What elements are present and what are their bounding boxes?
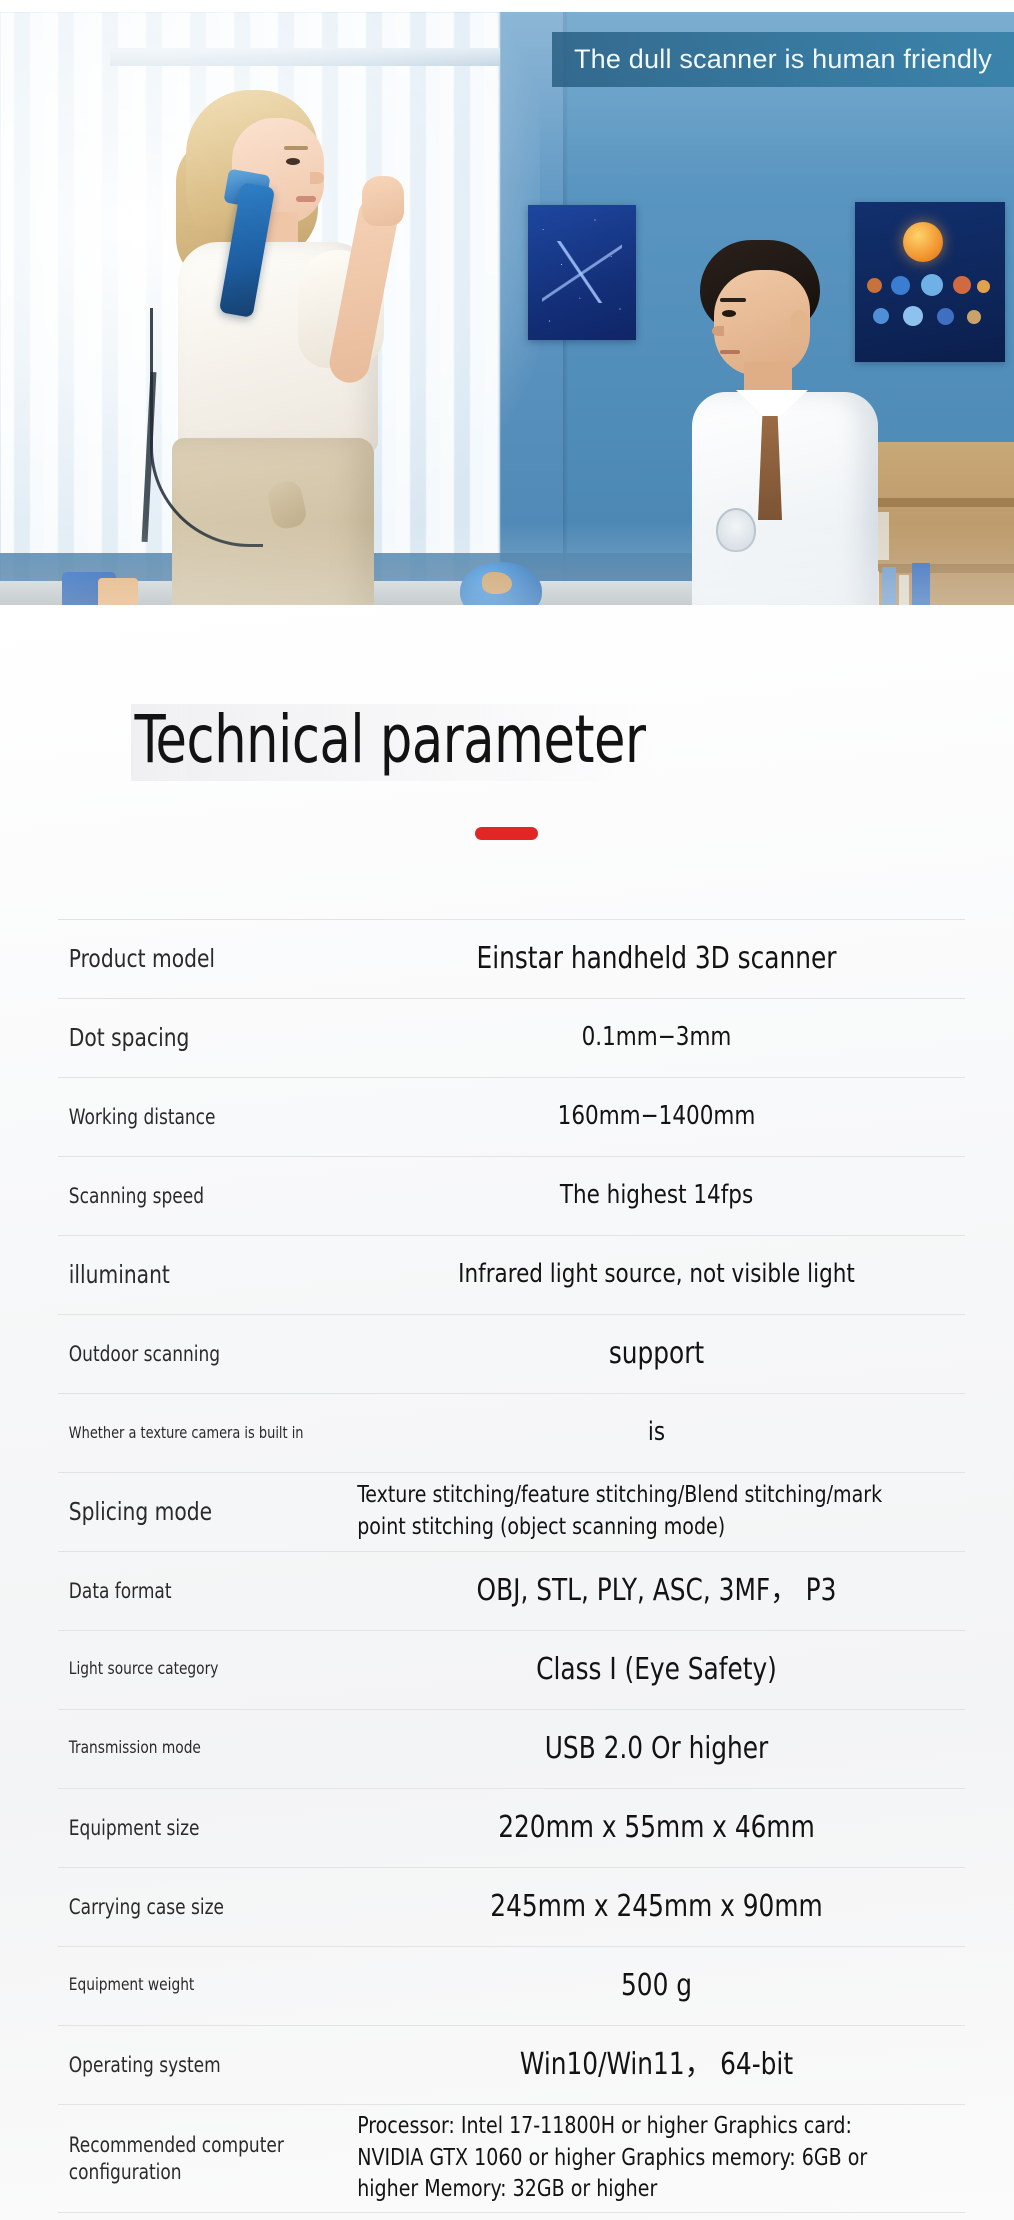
spec-value: support	[373, 1333, 941, 1374]
spec-label: illuminant	[58, 1259, 319, 1291]
hero-illustration	[0, 12, 1014, 605]
spec-value: 220mm x 55mm x 46mm	[373, 1807, 941, 1848]
spec-label: Transmission mode	[58, 1738, 319, 1760]
spec-label: Splicing mode	[58, 1496, 319, 1528]
table-row: Data format OBJ, STL, PLY, ASC, 3MF， P3	[58, 1551, 965, 1630]
table-row: Splicing mode Texture stitching/feature …	[58, 1472, 965, 1551]
spec-label: Dot spacing	[58, 1022, 319, 1054]
spec-value: Einstar handheld 3D scanner	[373, 938, 941, 979]
table-row: Scanning speed The highest 14fps	[58, 1156, 965, 1235]
spec-value: 500 g	[373, 1965, 941, 2006]
table-row: Recommended computer configuration Proce…	[58, 2104, 965, 2213]
spec-value: USB 2.0 Or higher	[373, 1728, 941, 1769]
section-title-wrap: Technical parameter	[0, 660, 1014, 825]
table-row: Operating system Win10/Win11， 64-bit	[58, 2025, 965, 2104]
spec-table: Product model Einstar handheld 3D scanne…	[58, 919, 965, 2213]
table-row: Equipment weight 500 g	[58, 1946, 965, 2025]
table-row: Dot spacing 0.1mm−3mm	[58, 998, 965, 1077]
spec-value: OBJ, STL, PLY, ASC, 3MF， P3	[373, 1570, 941, 1611]
spec-value: 245mm x 245mm x 90mm	[373, 1886, 941, 1927]
technical-parameter-section: Technical parameter Product model Einsta…	[0, 605, 1014, 2220]
spec-label: Carrying case size	[58, 1894, 319, 1921]
hero-banner-caption: The dull scanner is human friendly	[552, 32, 1014, 87]
table-row: Product model Einstar handheld 3D scanne…	[58, 919, 965, 998]
spec-label: Equipment weight	[58, 1975, 319, 1997]
spec-label: Whether a texture camera is built in	[58, 1423, 319, 1443]
hero-overlay-haze	[0, 12, 1014, 605]
table-row: Whether a texture camera is built in is	[58, 1393, 965, 1472]
spec-label: Equipment size	[58, 1815, 319, 1842]
spec-value: Texture stitching/feature stitching/Blen…	[348, 1480, 916, 1543]
spec-value: is	[373, 1415, 941, 1451]
table-row: illuminant Infrared light source, not vi…	[58, 1235, 965, 1314]
spec-value: 160mm−1400mm	[373, 1099, 941, 1135]
page-title: Technical parameter	[131, 704, 654, 781]
title-accent-rule	[475, 827, 538, 840]
spec-value: 0.1mm−3mm	[373, 1020, 941, 1056]
table-row: Outdoor scanning support	[58, 1314, 965, 1393]
spec-label: Working distance	[58, 1104, 319, 1131]
table-row: Equipment size 220mm x 55mm x 46mm	[58, 1788, 965, 1867]
spec-label: Operating system	[58, 2052, 319, 2079]
spec-label: Data format	[58, 1578, 319, 1605]
table-row: Light source category Class I (Eye Safet…	[58, 1630, 965, 1709]
spec-value: Processor: Intel 17-11800H or higher Gra…	[348, 2111, 916, 2206]
spec-label: Outdoor scanning	[58, 1341, 319, 1368]
spec-label: Recommended computer configuration	[58, 2132, 319, 2186]
table-row: Working distance 160mm−1400mm	[58, 1077, 965, 1156]
hero-banner-text: The dull scanner is human friendly	[574, 44, 992, 75]
table-row: Carrying case size 245mm x 245mm x 90mm	[58, 1867, 965, 1946]
spec-label: Scanning speed	[58, 1183, 319, 1210]
spec-label: Product model	[58, 943, 319, 975]
spec-value: Infrared light source, not visible light	[373, 1257, 941, 1293]
spec-value: Class I (Eye Safety)	[373, 1649, 941, 1690]
table-row: Transmission mode USB 2.0 Or higher	[58, 1709, 965, 1788]
spec-value: Win10/Win11， 64-bit	[373, 2044, 941, 2085]
spec-label: Light source category	[58, 1659, 319, 1681]
spec-value: The highest 14fps	[373, 1178, 941, 1214]
hero-image: The dull scanner is human friendly	[0, 12, 1014, 605]
